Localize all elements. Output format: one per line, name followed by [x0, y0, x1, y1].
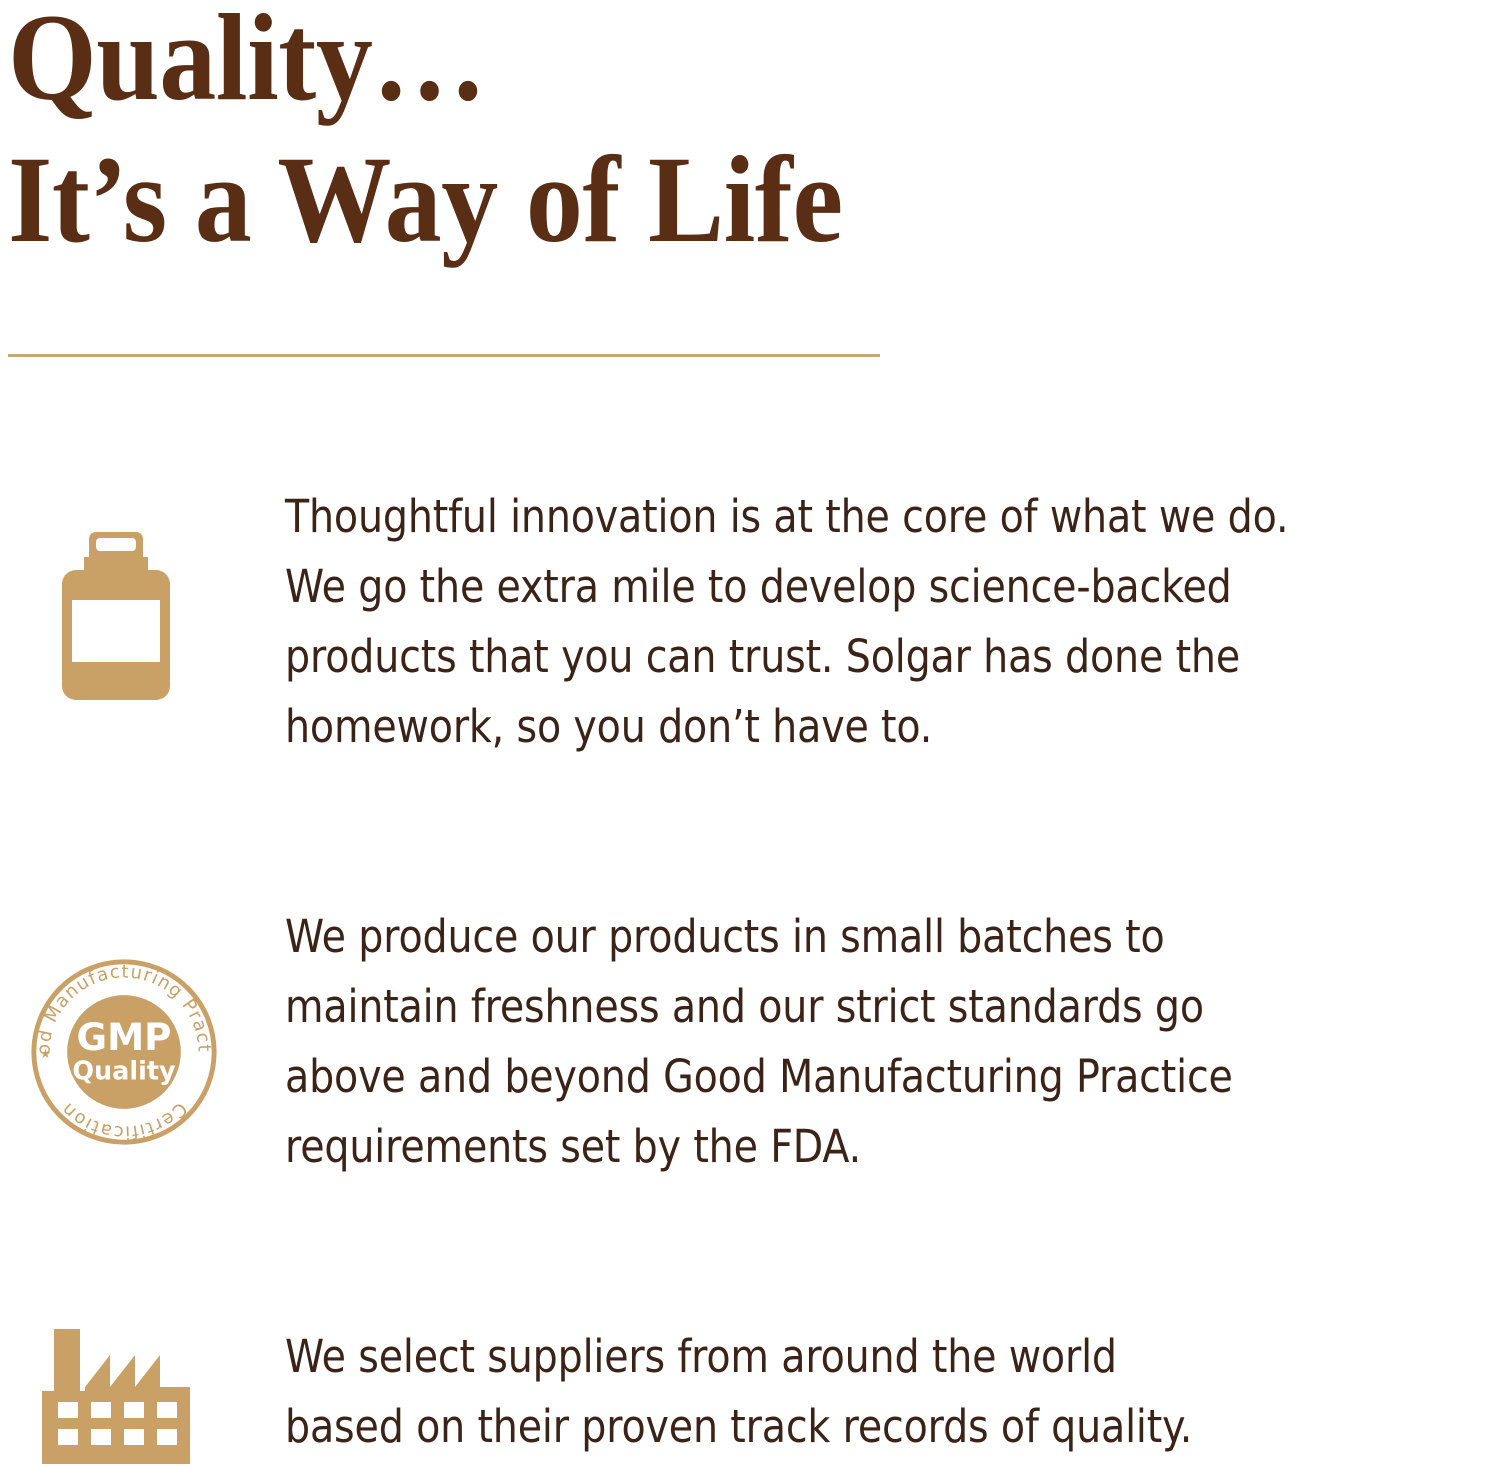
section-divider [8, 354, 880, 357]
feature-icon-slot [0, 1322, 285, 1466]
feature-row-suppliers: We select suppliers from around the worl… [0, 1322, 1500, 1466]
page-title: Quality… It’s a Way of Life [8, 0, 1208, 264]
feature-text-small-batches: We produce our products in small batches… [285, 902, 1354, 1182]
page-title-line-1: Quality… [8, 0, 1112, 122]
svg-text:GMP: GMP [77, 1015, 172, 1059]
quality-page: Quality… It’s a Way of Life Thoughtful i… [0, 0, 1500, 1466]
gmp-quality-seal-icon: Good Manufacturing Practice Certificatio… [26, 954, 222, 1150]
feature-text-innovation: Thoughtful innovation is at the core of … [285, 482, 1354, 762]
svg-text:Quality: Quality [72, 1056, 176, 1086]
feature-row-innovation: Thoughtful innovation is at the core of … [0, 482, 1500, 762]
feature-icon-slot: Good Manufacturing Practice Certificatio… [0, 902, 285, 1150]
feature-icon-slot [0, 482, 285, 700]
factory-icon [40, 1322, 192, 1466]
feature-text-suppliers: We select suppliers from around the worl… [285, 1322, 1354, 1462]
feature-row-small-batches: Good Manufacturing Practice Certificatio… [0, 902, 1500, 1182]
bottle-cap-hole-shape [96, 538, 136, 551]
bottle-label-shape [72, 600, 160, 662]
svg-text:★: ★ [40, 1047, 51, 1062]
supplement-bottle-icon [62, 532, 170, 700]
page-title-line-2: It’s a Way of Life [8, 136, 1112, 264]
